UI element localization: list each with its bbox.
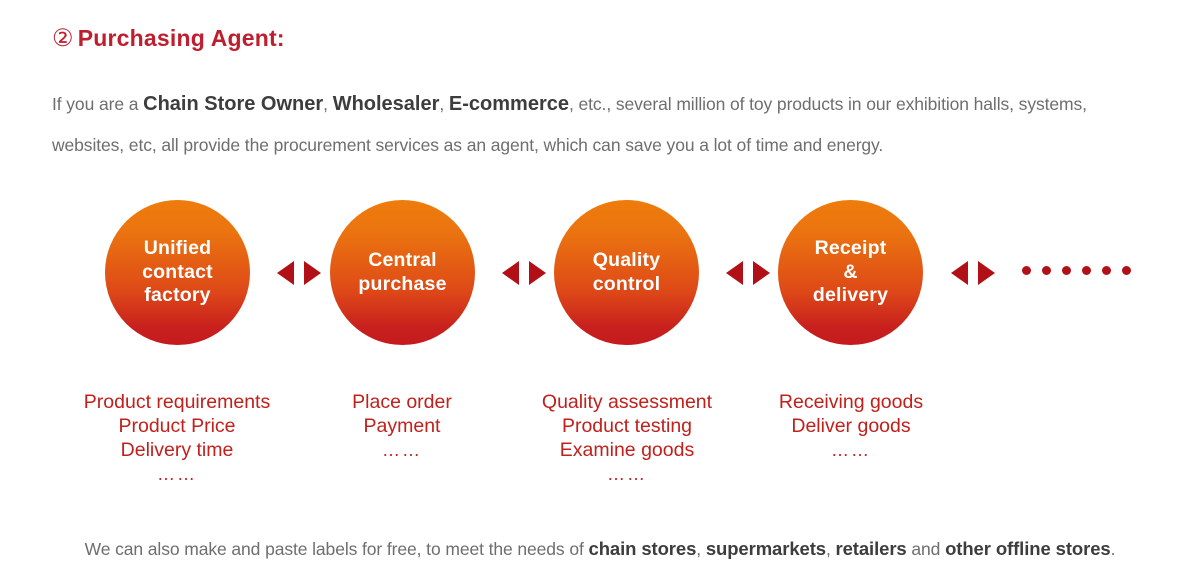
flow-continuation-dots — [1022, 266, 1131, 275]
arrow-left-icon — [951, 261, 968, 285]
flow-step-circle-1: Unified contact factory — [105, 200, 250, 345]
page-title-text: Purchasing Agent: — [78, 25, 285, 51]
flow-step-caption-4: Receiving goods Deliver goods …… — [751, 390, 951, 462]
flow-step-3-line-1: Quality — [593, 249, 661, 273]
intro-sep-1: , — [323, 94, 333, 114]
footer-text-end: . — [1111, 539, 1116, 559]
caption-3-ellipsis: …… — [507, 462, 747, 486]
arrow-right-icon — [753, 261, 770, 285]
dot-icon — [1122, 266, 1131, 275]
footer-bold-chain-stores: chain stores — [589, 538, 697, 559]
flow-step-4-line-3: delivery — [813, 284, 888, 308]
flow-step-caption-1: Product requirements Product Price Deliv… — [77, 390, 277, 486]
section-number: ② — [52, 25, 74, 52]
footer-text-and: and — [907, 539, 945, 559]
flow-step-caption-3: Quality assessment Product testing Exami… — [507, 390, 747, 486]
arrow-left-icon — [502, 261, 519, 285]
dot-icon — [1082, 266, 1091, 275]
caption-2-ellipsis: …… — [302, 438, 502, 462]
footer-sep-1: , — [696, 539, 706, 559]
intro-bold-ecommerce: E-commerce — [449, 93, 569, 115]
caption-4-line-1: Receiving goods — [751, 390, 951, 414]
process-flow-diagram: Unified contact factory Central purchase… — [0, 200, 1200, 380]
caption-3-line-2: Product testing — [507, 414, 747, 438]
flow-step-1-line-3: factory — [142, 284, 213, 308]
caption-1-line-1: Product requirements — [77, 390, 277, 414]
flow-arrow-pair-3 — [726, 260, 770, 286]
intro-bold-wholesaler: Wholesaler — [333, 93, 440, 115]
caption-3-line-1: Quality assessment — [507, 390, 747, 414]
flow-step-circle-4: Receipt & delivery — [778, 200, 923, 345]
intro-sep-2: , — [439, 94, 449, 114]
flow-step-2-line-2: purchase — [358, 273, 446, 297]
footer-bold-supermarkets: supermarkets — [706, 538, 826, 559]
footer-text-1: We can also make and paste labels for fr… — [85, 539, 589, 559]
flow-arrow-pair-4 — [951, 260, 995, 286]
caption-2-line-2: Payment — [302, 414, 502, 438]
flow-step-circle-2: Central purchase — [330, 200, 475, 345]
flow-arrow-pair-1 — [277, 260, 321, 286]
flow-step-3-line-2: control — [593, 273, 661, 297]
flow-step-4-line-1: Receipt — [813, 237, 888, 261]
intro-bold-chain-store-owner: Chain Store Owner — [143, 93, 323, 115]
page-title: ②Purchasing Agent: — [52, 24, 285, 53]
flow-arrow-pair-2 — [502, 260, 546, 286]
caption-4-line-2: Deliver goods — [751, 414, 951, 438]
dot-icon — [1062, 266, 1071, 275]
dot-icon — [1022, 266, 1031, 275]
dot-icon — [1102, 266, 1111, 275]
flow-step-caption-2: Place order Payment …… — [302, 390, 502, 462]
flow-step-4-line-2: & — [813, 261, 888, 285]
flow-step-2-line-1: Central — [358, 249, 446, 273]
arrow-right-icon — [304, 261, 321, 285]
arrow-right-icon — [978, 261, 995, 285]
caption-1-line-3: Delivery time — [77, 438, 277, 462]
footer-bold-retailers: retailers — [836, 538, 907, 559]
caption-2-line-1: Place order — [302, 390, 502, 414]
caption-3-line-3: Examine goods — [507, 438, 747, 462]
footer-sep-2: , — [826, 539, 836, 559]
intro-text-1: If you are a — [52, 94, 143, 114]
dot-icon — [1042, 266, 1051, 275]
caption-1-ellipsis: …… — [77, 462, 277, 486]
arrow-left-icon — [277, 261, 294, 285]
flow-step-1-line-2: contact — [142, 261, 213, 285]
caption-1-line-2: Product Price — [77, 414, 277, 438]
footer-bold-other-offline-stores: other offline stores — [945, 538, 1111, 559]
caption-4-ellipsis: …… — [751, 438, 951, 462]
arrow-right-icon — [529, 261, 546, 285]
intro-paragraph: If you are a Chain Store Owner, Wholesal… — [52, 84, 1157, 166]
flow-step-1-line-1: Unified — [142, 237, 213, 261]
arrow-left-icon — [726, 261, 743, 285]
footer-note: We can also make and paste labels for fr… — [0, 538, 1200, 560]
flow-step-circle-3: Quality control — [554, 200, 699, 345]
